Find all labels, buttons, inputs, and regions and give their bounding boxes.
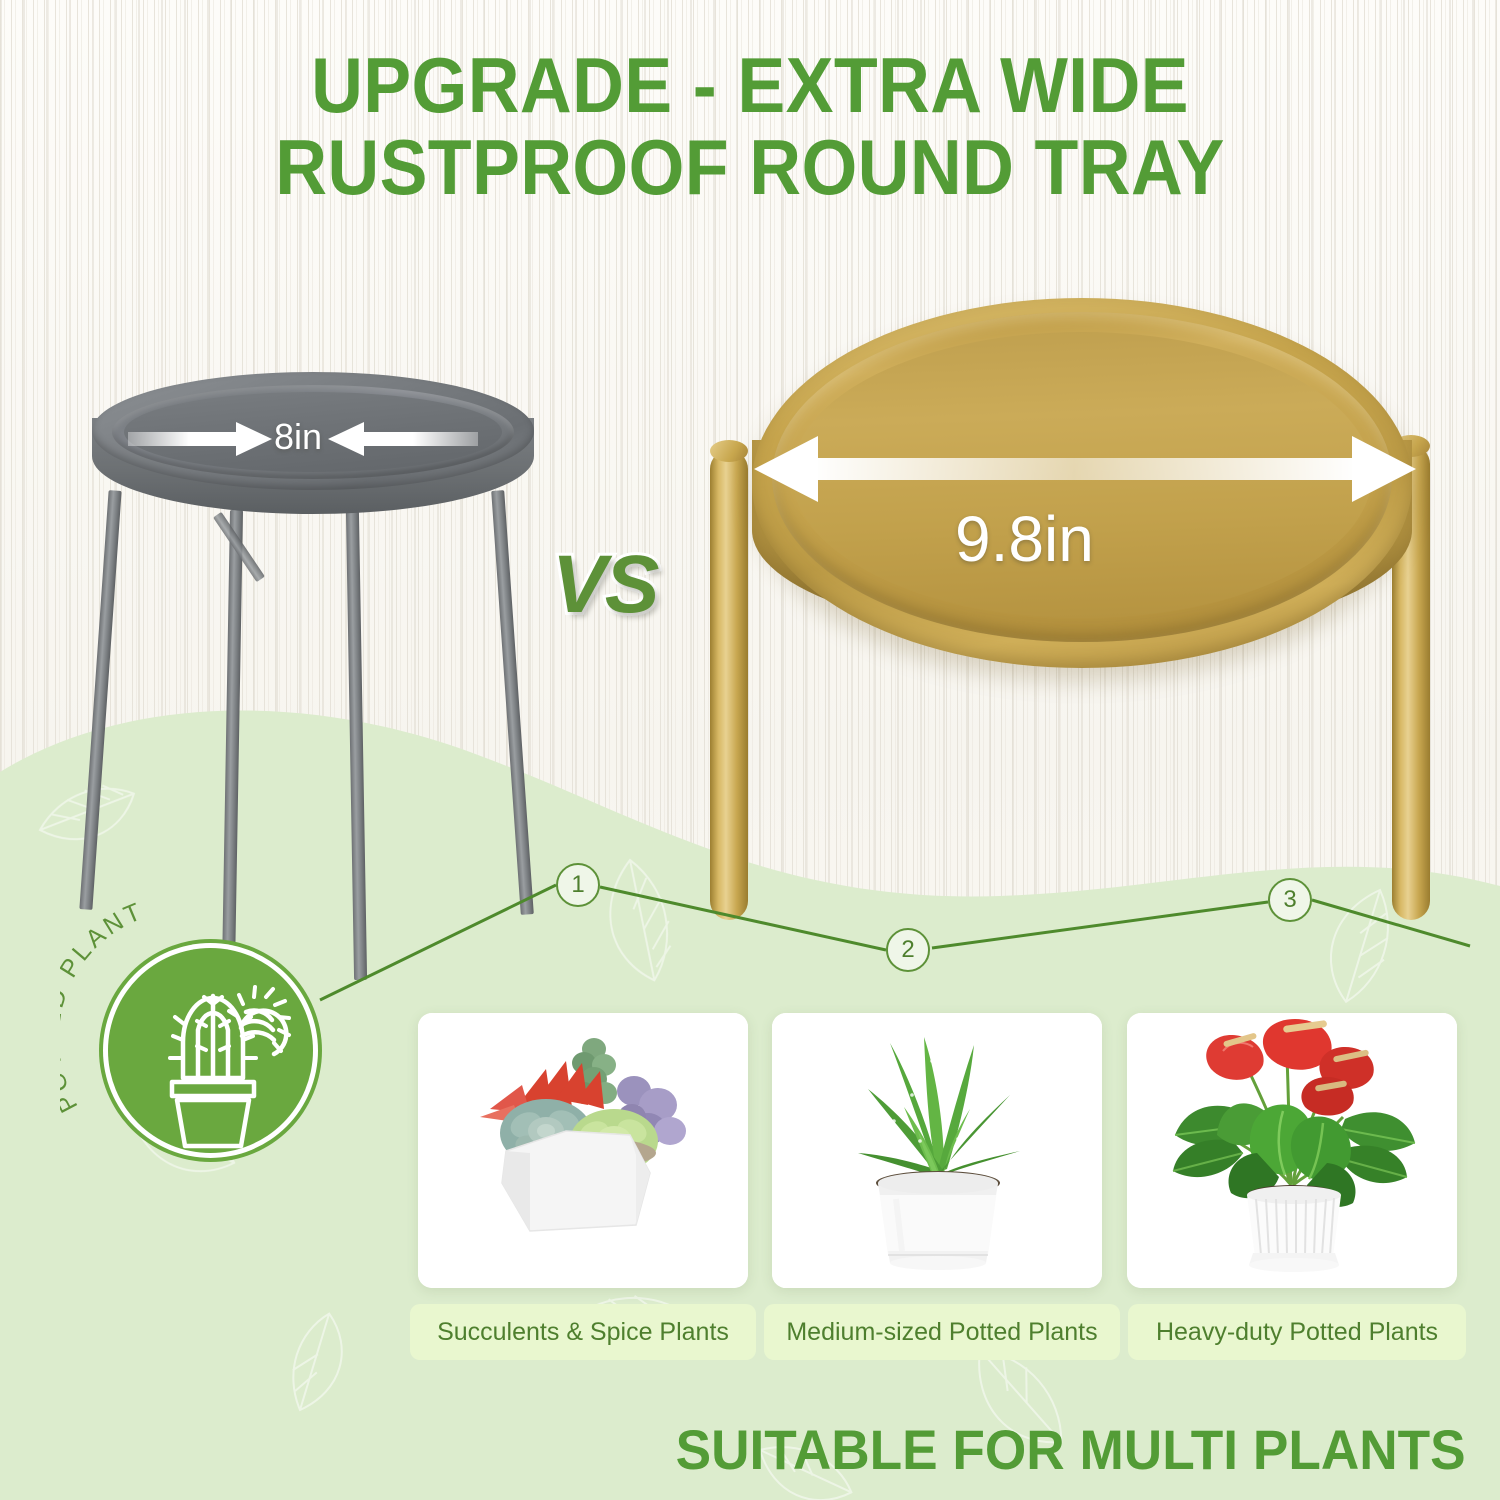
bottom-headline: SUITABLE FOR MULTI PLANTS xyxy=(676,1417,1466,1482)
potted-plant-badge: POTTED PLANT xyxy=(60,900,360,1200)
page-title: UPGRADE - EXTRA WIDE RUSTPROOF ROUND TRA… xyxy=(60,44,1440,208)
title-line-2: RUSTPROOF ROUND TRAY xyxy=(60,126,1440,208)
infographic-canvas: UPGRADE - EXTRA WIDE RUSTPROOF ROUND TRA… xyxy=(0,0,1500,1500)
cactus-in-pot-icon xyxy=(60,900,360,1200)
plant-card-3-label: Heavy-duty Potted Plants xyxy=(1156,1318,1438,1347)
plant-card-2-label: Medium-sized Potted Plants xyxy=(786,1318,1097,1347)
plant-card-1[interactable] xyxy=(418,1013,748,1288)
plant-card-2-label-pill: Medium-sized Potted Plants xyxy=(764,1304,1120,1360)
aloe-vera-white-round-pot-image xyxy=(772,1013,1102,1288)
plant-card-3-label-pill: Heavy-duty Potted Plants xyxy=(1128,1304,1466,1360)
connector-node-3: 3 xyxy=(1268,878,1312,922)
gold-dimension-arrows xyxy=(700,290,1470,690)
plant-card-3[interactable] xyxy=(1127,1013,1457,1288)
new-dimension-label: 9.8in xyxy=(955,502,1094,576)
mixed-succulents-hexagon-pot-image xyxy=(418,1013,748,1288)
plant-card-2[interactable] xyxy=(772,1013,1102,1288)
old-dimension-label: 8in xyxy=(274,416,322,458)
connector-node-2: 2 xyxy=(886,928,930,972)
plant-card-1-label-pill: Succulents & Spice Plants xyxy=(410,1304,756,1360)
versus-label: VS xyxy=(552,538,657,632)
title-line-1: UPGRADE - EXTRA WIDE xyxy=(60,44,1440,126)
red-anthurium-ribbed-white-pot-image xyxy=(1127,1013,1457,1288)
plant-card-1-label: Succulents & Spice Plants xyxy=(437,1318,729,1347)
connector-node-1: 1 xyxy=(556,863,600,907)
